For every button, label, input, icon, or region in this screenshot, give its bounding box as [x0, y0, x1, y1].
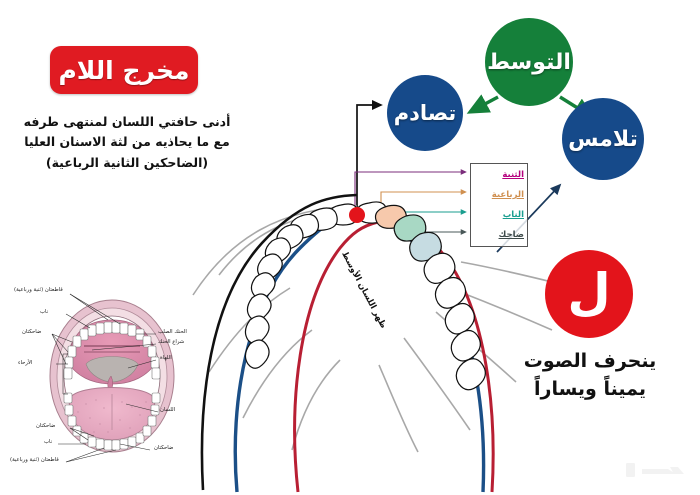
- bottom-note-line-2: يميناً ويساراً: [500, 376, 680, 404]
- anatomy-label-gum: ضاحكتان: [154, 446, 173, 451]
- anatomy-label-qatiatan-top: قاطعتان (ثنية ورباعية): [14, 288, 63, 293]
- subtitle-block: أدنى حافتي اللسان لمنتهى طرفه مع ما يحاذ…: [18, 112, 236, 173]
- subtitle-line-2: مع ما يحاذيه من لثة الاسنان العليا: [18, 132, 236, 152]
- subtitle-line-1: أدنى حافتي اللسان لمنتهى طرفه: [18, 112, 236, 132]
- node-letter-laam: ل: [545, 250, 633, 338]
- anatomy-label-arha: الأرحاء: [18, 361, 32, 366]
- mouth-anatomy-drawing: [8, 272, 198, 470]
- anatomy-label-nab-bottom: ناب: [44, 440, 52, 445]
- legend-item-rubaiya: الرباعية: [492, 191, 524, 200]
- anatomy-label-hard-palate: الحنك الصلب: [158, 330, 187, 335]
- legend-item-nab: الناب: [503, 211, 524, 220]
- node-letter-laam-label: ل: [567, 270, 610, 315]
- anatomy-label-qatiatan-bottom: قاطعتان (ثنية ورباعية): [10, 458, 59, 463]
- title-badge: مخرج اللام: [50, 46, 198, 94]
- subtitle-line-3: (الضاحكين الثانية الرباعية): [18, 153, 236, 173]
- node-tasadum-label: تصادم: [394, 101, 457, 125]
- anatomy-label-dahiktan-bottom: ضاحكتان: [36, 424, 55, 429]
- anatomy-label-uvula: اللهاة: [160, 356, 172, 361]
- title-badge-label: مخرج اللام: [58, 58, 189, 83]
- anatomy-label-nab-top: ناب: [40, 310, 48, 315]
- legend-item-dahik: ضاحك: [499, 231, 524, 240]
- diagram-canvas: ظهر اللسان الأوسط مخرج اللام أدنى حافتي …: [0, 0, 700, 495]
- bottom-note: ينحرف الصوت يميناً ويساراً: [500, 348, 680, 403]
- anatomy-label-soft-palate: شراع الحنك: [158, 340, 184, 345]
- node-talamus: تلامس: [562, 98, 644, 180]
- anatomy-label-tongue: اللسان: [160, 408, 175, 413]
- anatomy-label-dahiktan-top: ضاحكتان: [22, 330, 41, 335]
- node-tawassut: التوسط: [485, 18, 573, 106]
- node-talamus-label: تلامس: [568, 127, 638, 152]
- articulation-point-marker: [349, 207, 365, 223]
- mouth-anatomy-figure: قاطعتان (ثنية ورباعية) ناب ضاحكتان الأرح…: [8, 272, 198, 470]
- node-tawassut-label: التوسط: [487, 50, 571, 75]
- watermark-logo: [624, 458, 690, 484]
- node-tasadum: تصادم: [387, 75, 463, 151]
- bottom-note-line-1: ينحرف الصوت: [500, 348, 680, 376]
- teeth-legend: الثنية الرباعية الناب ضاحك: [470, 163, 528, 247]
- legend-item-thaniya: الثنية: [502, 171, 524, 180]
